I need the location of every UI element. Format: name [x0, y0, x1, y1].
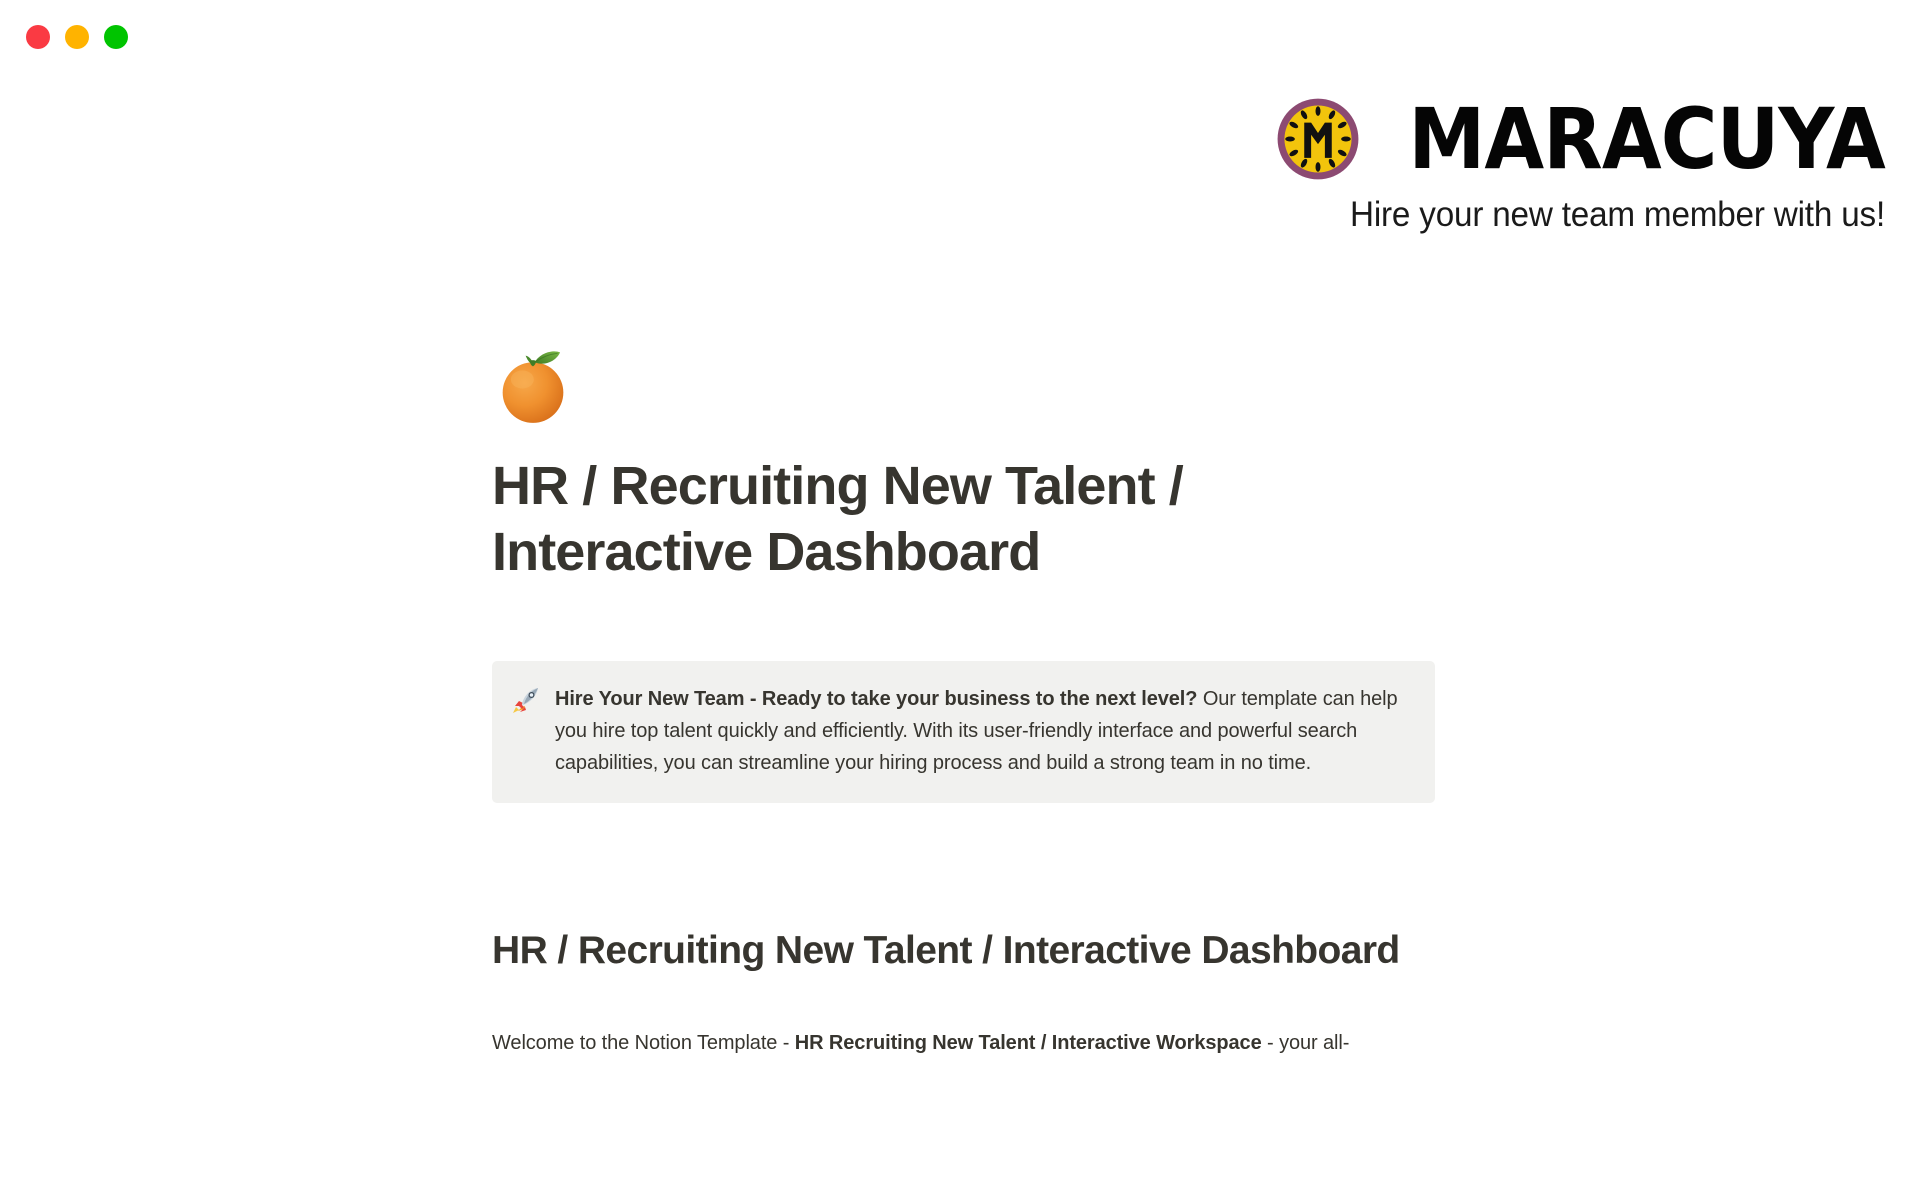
section-heading: HR / Recruiting New Talent / Interactive… [492, 927, 1442, 975]
paragraph-text-before: Welcome to the Notion Template - [492, 1032, 795, 1054]
page-title: HR / Recruiting New Talent / Interactive… [492, 453, 1212, 585]
paragraph-text-bold: HR Recruiting New Talent / Interactive W… [795, 1032, 1262, 1054]
minimize-button[interactable] [65, 25, 89, 49]
section-paragraph: Welcome to the Notion Template - HR Recr… [492, 1027, 1442, 1059]
maximize-button[interactable] [104, 25, 128, 49]
window-controls [26, 25, 128, 49]
tangerine-emoji [492, 345, 574, 427]
close-button[interactable] [26, 25, 50, 49]
paragraph-text-after: - your all- [1262, 1032, 1350, 1054]
page-content: HR / Recruiting New Talent / Interactive… [492, 0, 1442, 1059]
brand-wordmark: MARACUYA [1408, 104, 1885, 175]
rocket-emoji [510, 684, 542, 716]
callout-block: Hire Your New Team - Ready to take your … [492, 661, 1435, 803]
callout-lead: Hire Your New Team - Ready to take your … [555, 688, 1197, 710]
callout-text: Hire Your New Team - Ready to take your … [555, 683, 1407, 779]
